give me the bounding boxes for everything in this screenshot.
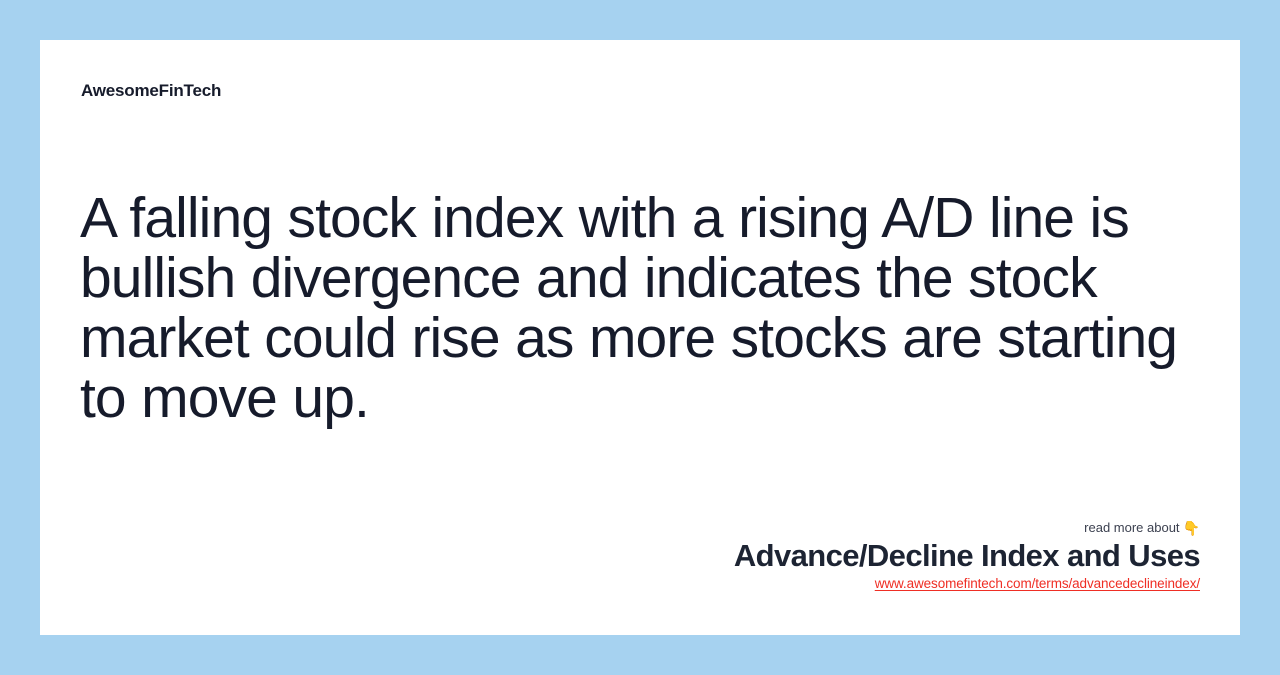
quote-card-canvas: AwesomeFinTech A falling stock index wit… [0,0,1280,675]
read-more-label: read more about [1084,520,1179,535]
attribution-footer: read more about👇 Advance/Decline Index a… [80,520,1200,593]
pointing-down-icon: 👇 [1183,520,1200,536]
entry-title: Advance/Decline Index and Uses [80,538,1200,574]
quote-card: AwesomeFinTech A falling stock index wit… [40,40,1240,635]
pull-quote-text: A falling stock index with a rising A/D … [80,188,1200,428]
entry-url-link[interactable]: www.awesomefintech.com/terms/advancedecl… [875,575,1200,593]
brand-logo: AwesomeFinTech [81,82,221,99]
read-more-line: read more about👇 [80,520,1200,536]
